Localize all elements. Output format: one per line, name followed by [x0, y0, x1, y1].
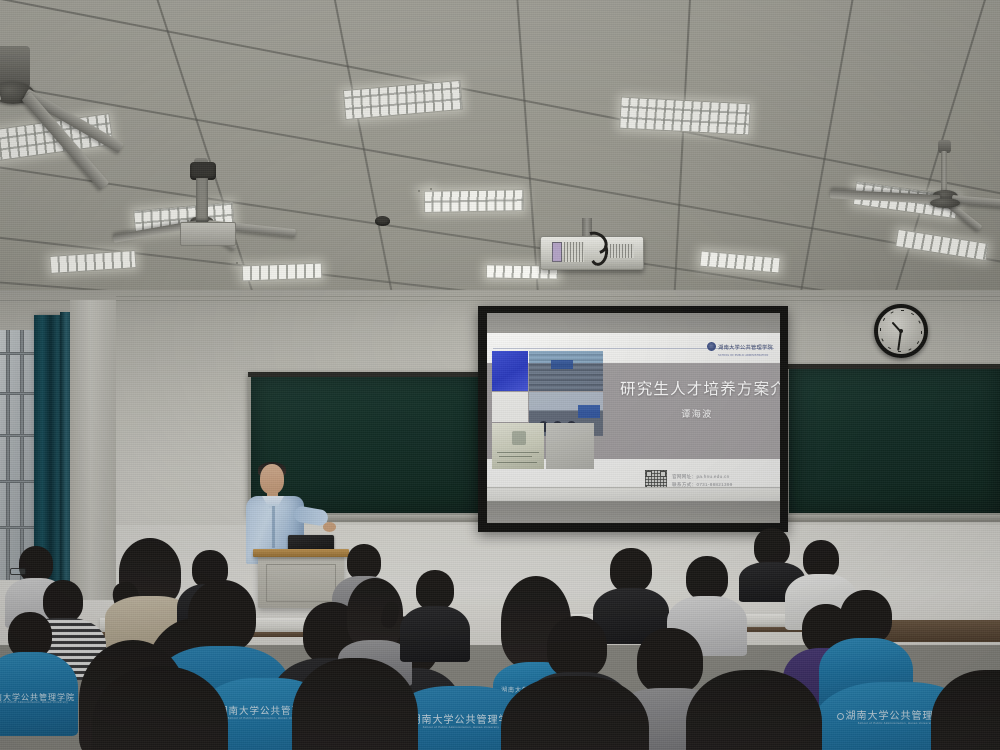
head [416, 570, 454, 610]
collage-certificate-document [492, 423, 544, 469]
wall-clock [874, 304, 928, 358]
collage-blue-swatch [492, 351, 528, 391]
clock-minute-hand [898, 332, 902, 351]
hair [292, 658, 418, 750]
attendee-blue-polo-midleft: 湖南大学公共管理学院 School of Public Administrati… [0, 612, 68, 732]
attendee-front-dark-center [290, 658, 420, 750]
ceiling-light-panel [430, 188, 432, 190]
smoke-detector-icon [375, 216, 390, 226]
school-logo-sub: SCHOOL OF PUBLIC ADMINISTRATION [718, 354, 773, 357]
ceiling-fan-center [150, 158, 340, 258]
ceiling-grid-line [672, 0, 692, 300]
attendee-front-far-right [932, 670, 1000, 750]
ceiling-light-panel [619, 97, 750, 136]
ceiling-grid-line [515, 0, 541, 300]
glasses-icon [10, 568, 26, 575]
lecture-hall-photo: 湖南大学公共管理学院 SCHOOL OF PUBLIC ADMINISTRATI… [0, 0, 1000, 750]
head [188, 580, 256, 652]
audience: 湖南大学公共管理学院 School of Public Administrati… [0, 520, 1000, 750]
projection-screen: 湖南大学公共管理学院 SCHOOL OF PUBLIC ADMINISTRATI… [478, 306, 788, 532]
body [0, 652, 78, 736]
body [400, 606, 470, 662]
slide-bottom-bar [487, 487, 780, 501]
attendee-plaid [404, 570, 466, 662]
right-blackboard [786, 364, 1000, 516]
ceiling [0, 0, 1000, 300]
slide-presenter-name: 谭海波 [620, 407, 774, 420]
ceiling-light-panel [49, 250, 136, 274]
head [19, 546, 53, 582]
slide-website-line: 官网网址：pa.hnu.edu.cn [672, 473, 733, 481]
head [840, 590, 892, 644]
camera-mount-icon [196, 178, 208, 222]
ceiling-light-panel [242, 263, 323, 282]
ceiling-light-panel [343, 80, 463, 120]
ceiling-fan-left [0, 20, 130, 150]
head [610, 548, 652, 592]
ceiling-grid-line [330, 0, 397, 300]
hair [92, 666, 228, 750]
head [347, 544, 381, 580]
head [547, 616, 607, 678]
attendee-front-longhair [90, 666, 230, 750]
ceiling-light-panel [424, 189, 524, 213]
collage-white-placeholder [492, 392, 528, 422]
school-logo: 湖南大学公共管理学院 SCHOOL OF PUBLIC ADMINISTRATI… [707, 336, 773, 357]
hair [686, 670, 822, 750]
ceiling-light-panel [699, 251, 780, 274]
slide-divider [493, 348, 774, 349]
hair [931, 670, 1000, 750]
university-crest-icon [707, 342, 716, 351]
attendee-front-dark-right [500, 676, 650, 750]
ceiling-projector [540, 218, 650, 284]
ceiling-light-panel [236, 262, 238, 264]
slide-photo-collage [492, 351, 620, 471]
slide-title: 研究生人才培养方案介绍 [620, 377, 774, 399]
presentation-slide: 湖南大学公共管理学院 SCHOOL OF PUBLIC ADMINISTRATI… [487, 333, 780, 501]
head [754, 528, 790, 566]
head [686, 556, 728, 600]
attendee-front-gray-mid [684, 670, 824, 750]
wall-seam [0, 300, 1000, 301]
head [803, 540, 839, 578]
screen-letterbox-top [487, 313, 780, 333]
wall-seam [116, 296, 1000, 297]
collage-gray-placeholder [546, 423, 594, 469]
ceiling-speaker [180, 222, 236, 246]
ceiling-fan-right [800, 140, 1000, 250]
ceiling-light-panel [418, 190, 420, 192]
hair [501, 676, 649, 750]
collage-lecture-hall-photo [529, 351, 603, 391]
